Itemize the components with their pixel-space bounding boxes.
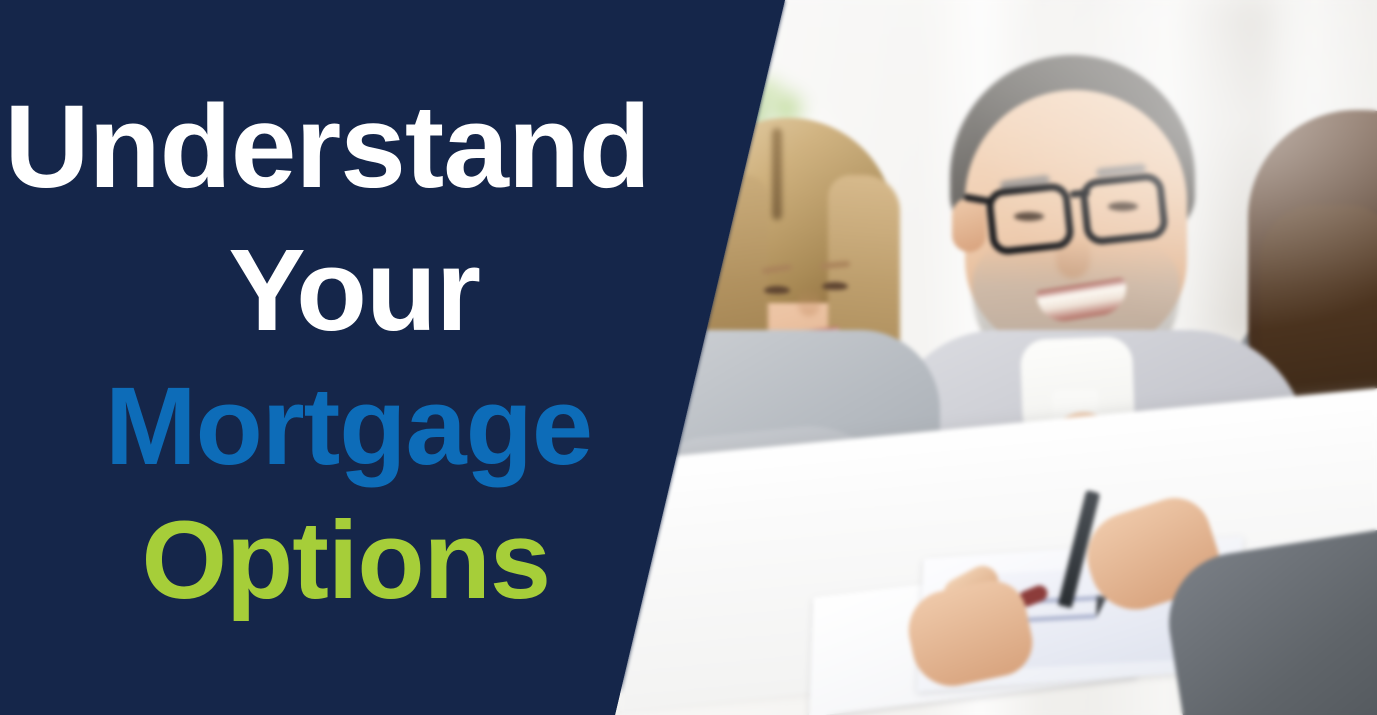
woman-hair-part [772, 128, 782, 220]
eyeglasses-right-lens [1079, 172, 1169, 246]
headline-line-4: Options [0, 506, 660, 616]
woman-eye [764, 286, 790, 294]
headline-line-3: Mortgage [0, 372, 660, 482]
eyeglasses-left-lens [985, 182, 1075, 256]
woman-nose [798, 288, 820, 316]
man-ear [952, 198, 986, 252]
headline-line-2: Your [0, 232, 660, 348]
woman-eye [822, 282, 848, 290]
headline: Understand Your Mortgage Options [0, 88, 660, 616]
marketing-banner: Understand Your Mortgage Options [0, 0, 1377, 715]
headline-line-1: Understand [0, 88, 660, 206]
